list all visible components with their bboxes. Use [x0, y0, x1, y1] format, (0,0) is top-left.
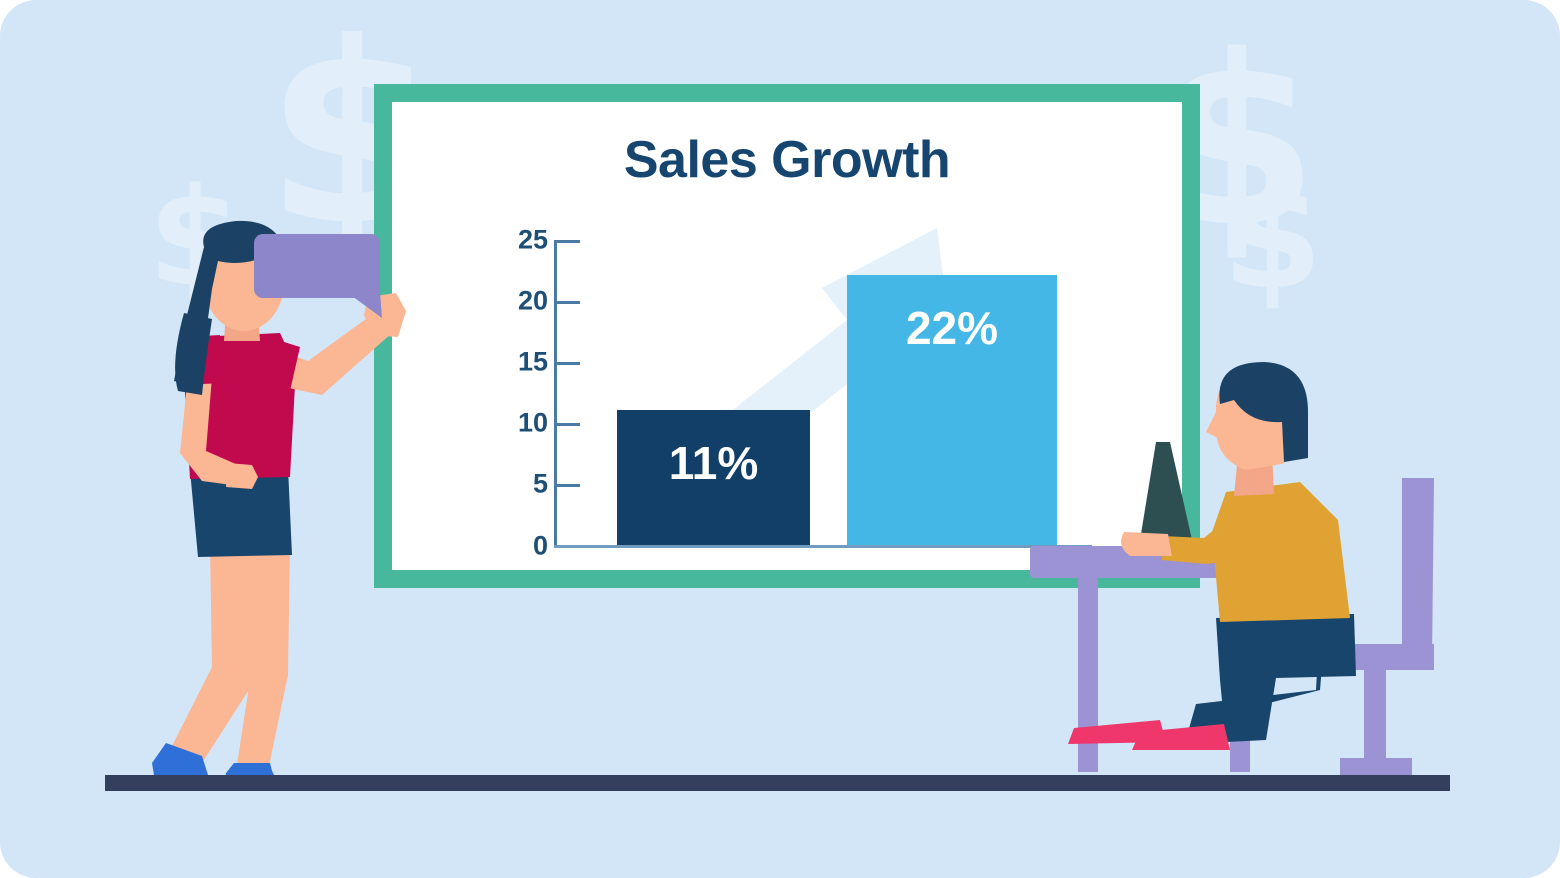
- chair-back: [1402, 478, 1434, 660]
- floor-line: [105, 775, 1450, 791]
- chair-post: [1364, 666, 1386, 762]
- y-tick-mark: [554, 301, 580, 304]
- y-tick-mark: [554, 423, 580, 426]
- dollar-sign-decor: $: [1222, 165, 1323, 310]
- laptop-screen: [1140, 442, 1192, 540]
- y-tick-label: 25: [500, 227, 548, 254]
- bar-previous: 11%: [617, 410, 810, 545]
- chair-base: [1340, 758, 1412, 776]
- speech-bubble: [252, 232, 402, 322]
- y-tick-label: 5: [500, 471, 548, 498]
- chart-title: Sales Growth: [392, 130, 1182, 190]
- man-hand: [1121, 532, 1172, 556]
- illustration-canvas: $ $ $ $ Sales Growth 25: [0, 0, 1560, 878]
- x-axis-line: [554, 545, 1092, 548]
- y-tick-mark: [554, 362, 580, 365]
- y-tick-mark: [554, 240, 580, 243]
- y-axis-line: [554, 240, 557, 548]
- bar-value-label: 11%: [617, 440, 810, 486]
- y-tick-mark: [554, 484, 580, 487]
- y-axis-labels: 25 20 15 10 5 0: [500, 240, 548, 546]
- workstation-group: [1020, 360, 1465, 785]
- bar-value-label: 22%: [847, 305, 1057, 351]
- y-tick-label: 15: [500, 349, 548, 376]
- y-tick-label: 20: [500, 288, 548, 315]
- man-pants: [1216, 614, 1356, 742]
- y-tick-label: 10: [500, 410, 548, 437]
- y-tick-label: 0: [500, 533, 548, 560]
